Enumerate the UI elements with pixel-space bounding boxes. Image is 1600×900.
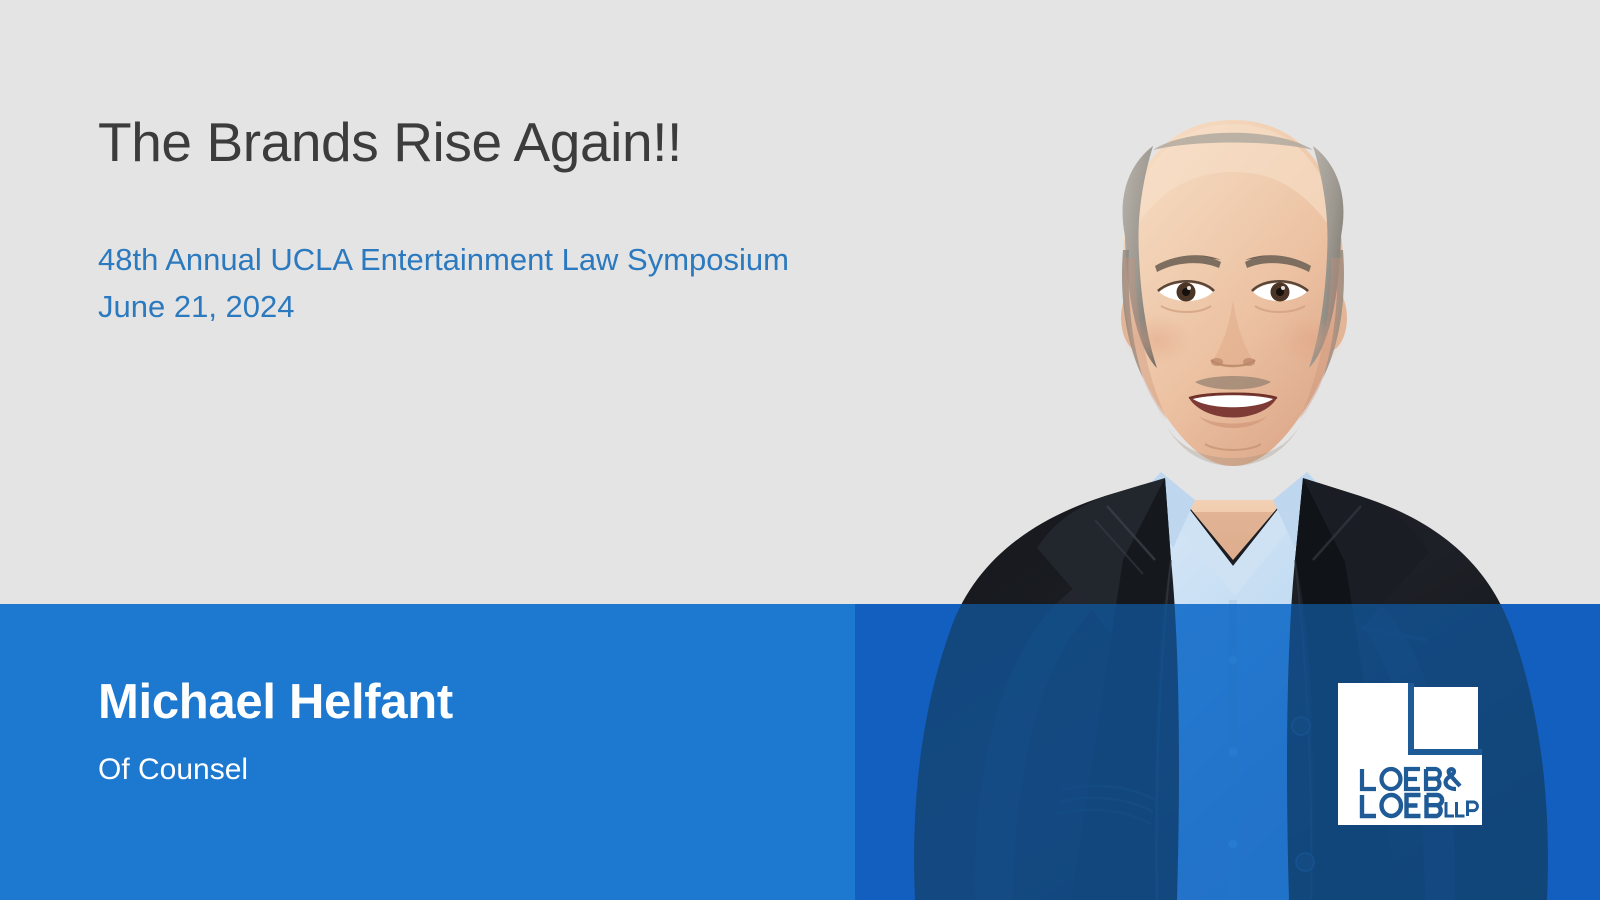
headline-block: The Brands Rise Again!! 48th Annual UCLA… bbox=[98, 112, 938, 330]
portrait-illustration bbox=[855, 0, 1600, 900]
event-details: 48th Annual UCLA Entertainment Law Sympo… bbox=[98, 236, 938, 330]
speaker-title: Of Counsel bbox=[98, 752, 453, 788]
title-slide: The Brands Rise Again!! 48th Annual UCLA… bbox=[0, 0, 1600, 900]
speaker-name-block: Michael Helfant Of Counsel bbox=[98, 676, 453, 788]
event-name: 48th Annual UCLA Entertainment Law Sympo… bbox=[98, 236, 938, 283]
loeb-and-loeb-logo bbox=[1338, 683, 1482, 825]
event-date: June 21, 2024 bbox=[98, 283, 938, 330]
page-title: The Brands Rise Again!! bbox=[98, 112, 938, 174]
portrait-image bbox=[855, 0, 1600, 900]
speaker-name: Michael Helfant bbox=[98, 676, 453, 730]
